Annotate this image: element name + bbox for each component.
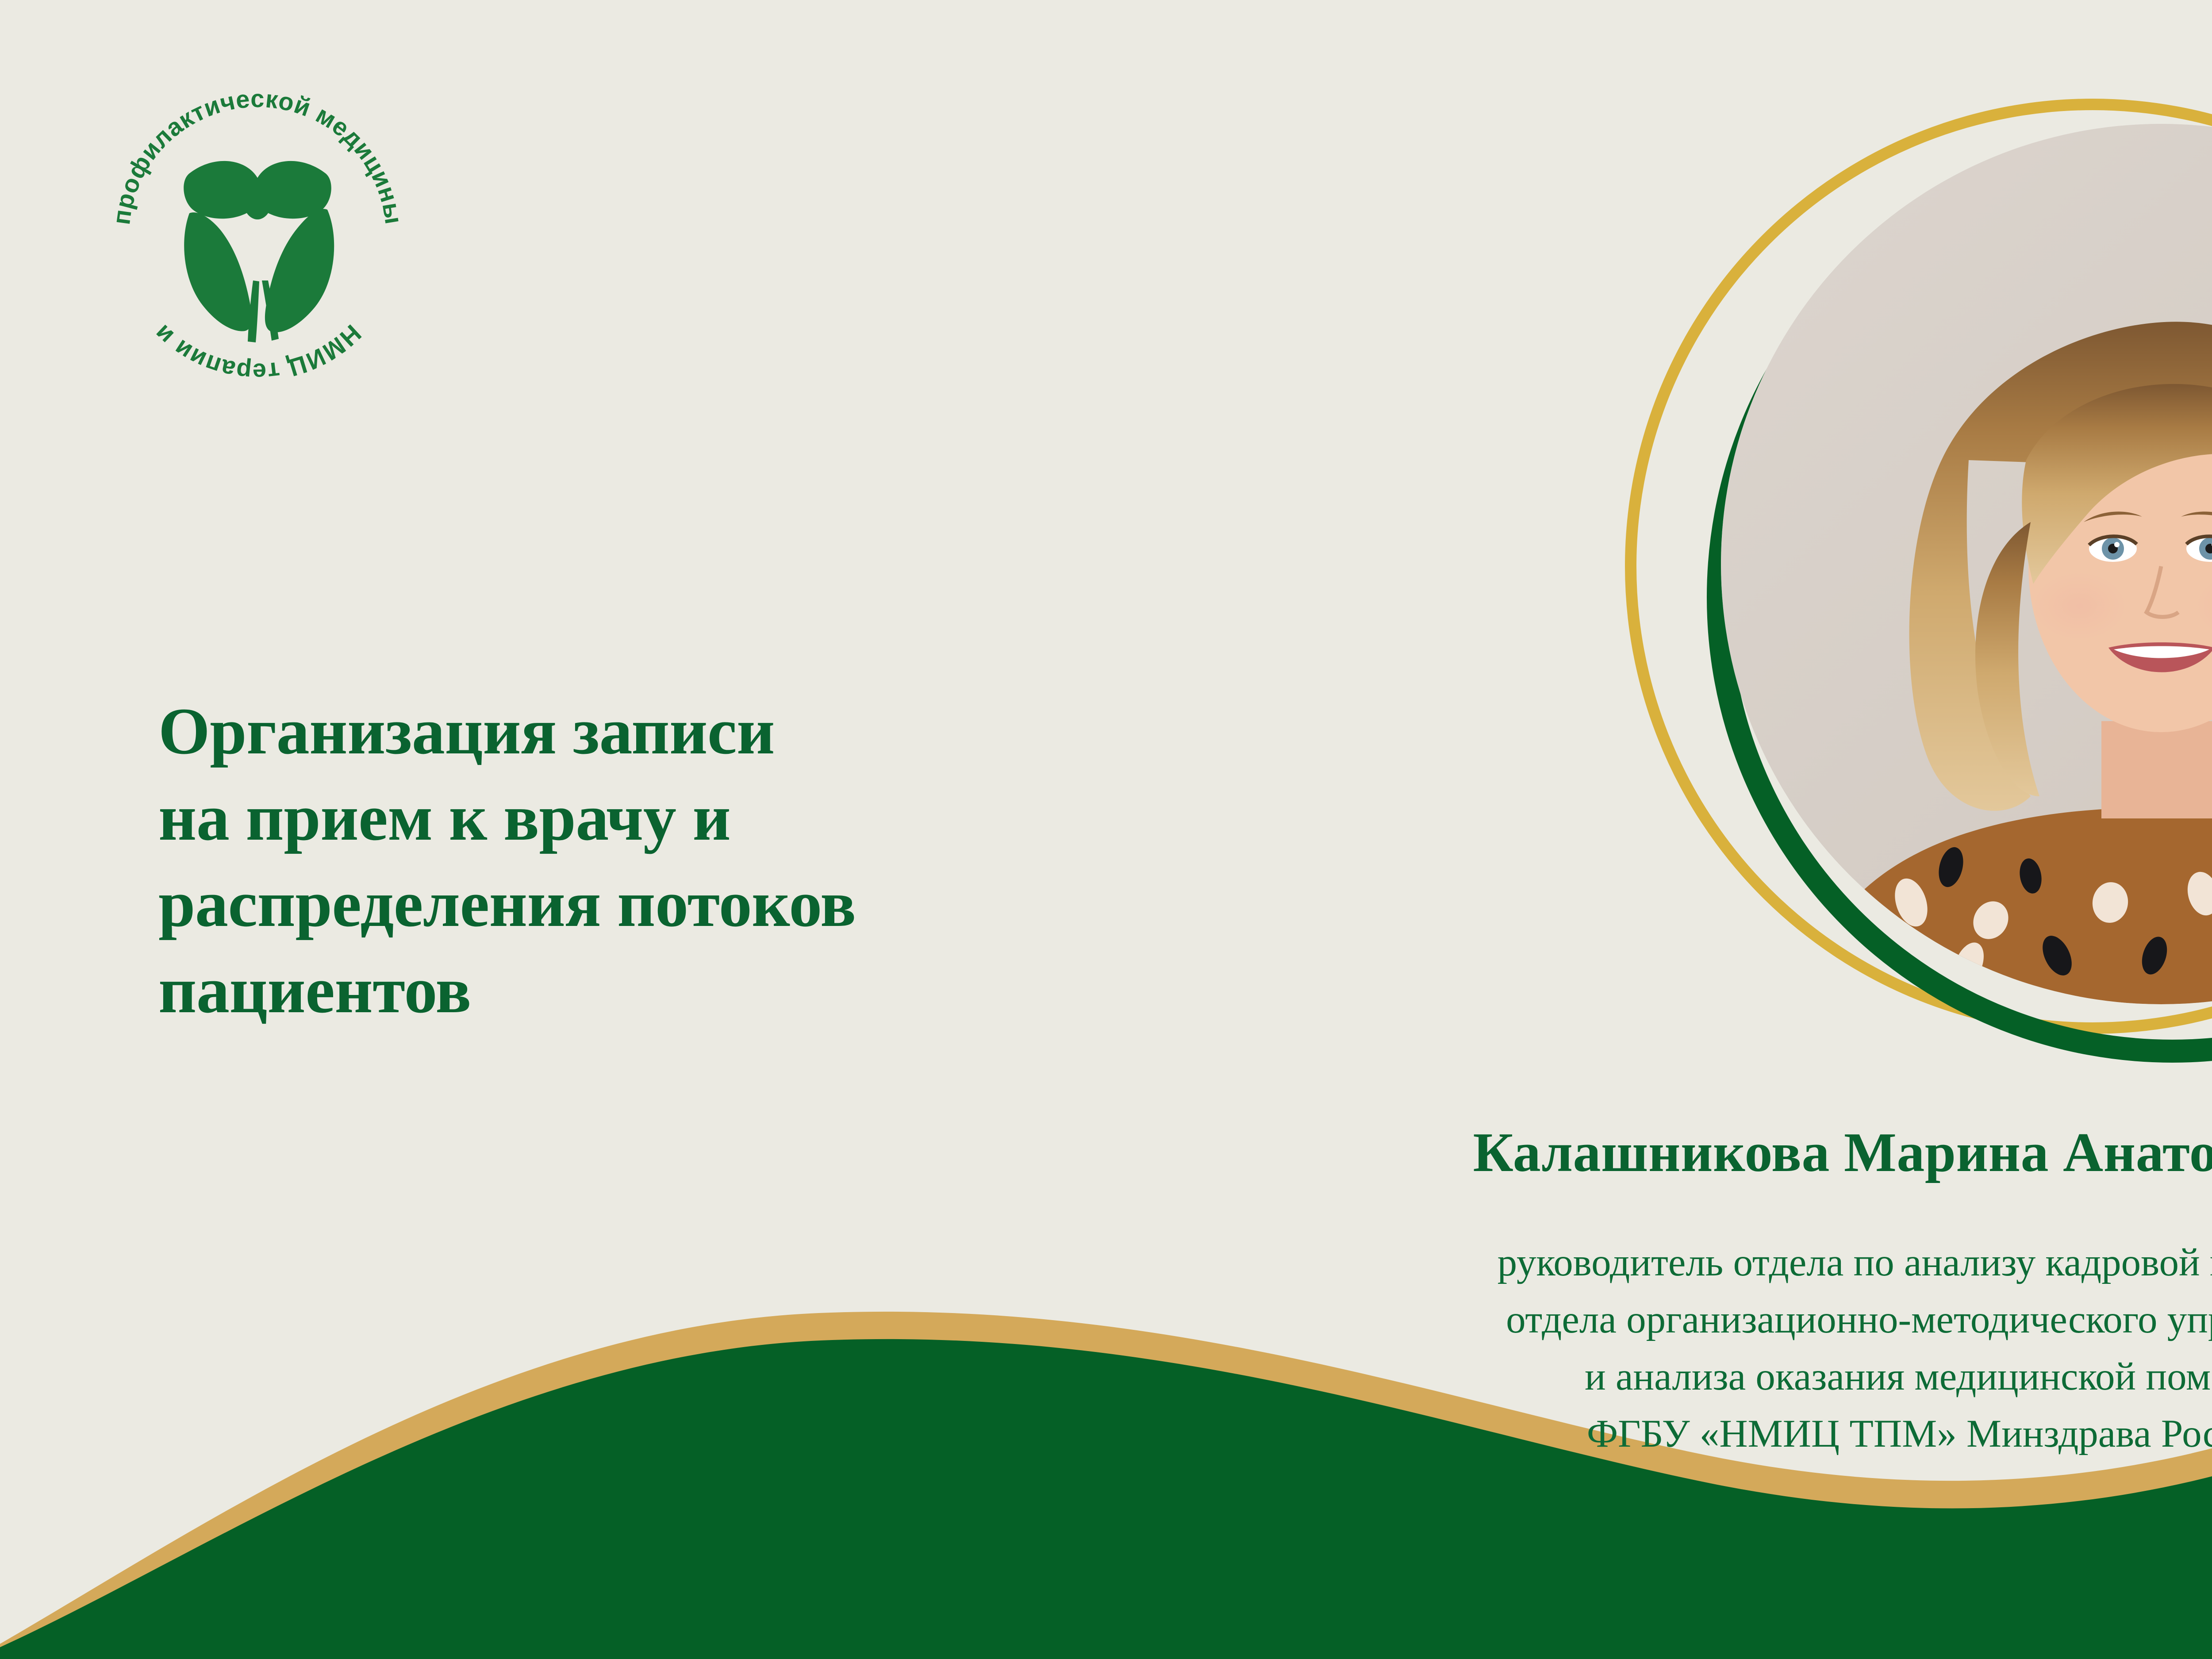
logo-arc-text-lower: НМИЦ терапии и [148,319,367,386]
title-line: распределения потоков [158,861,1291,947]
presentation-slide: профилактической медицины НМИЦ терапии и [0,0,2212,1659]
speaker-portrait-block [1601,75,2212,1110]
organization-logo: профилактической медицины НМИЦ терапии и [103,81,412,390]
logo-figure-icon [184,161,334,342]
speaker-affiliation: руководитель отдела по анализу кадровой … [1296,1234,2212,1463]
affiliation-line: отдела организационно-методического упра… [1296,1291,2212,1348]
title-line: Организация записи [158,688,1291,775]
title-line: на прием к врачу и [158,775,1291,861]
logo-emblem-icon: профилактической медицины НМИЦ терапии и [103,81,412,390]
speaker-name: Калашникова Марина Анатольевна [1296,1119,2212,1186]
affiliation-line: руководитель отдела по анализу кадровой … [1296,1234,2212,1291]
page-title: Организация записи на прием к врачу и ра… [158,688,1291,1033]
title-line: пациентов [158,947,1291,1033]
affiliation-line: и анализа оказания медицинской помощи [1296,1348,2212,1406]
affiliation-line: ФГБУ «НМИЦ ТПМ» Минздрава России [1296,1406,2212,1463]
